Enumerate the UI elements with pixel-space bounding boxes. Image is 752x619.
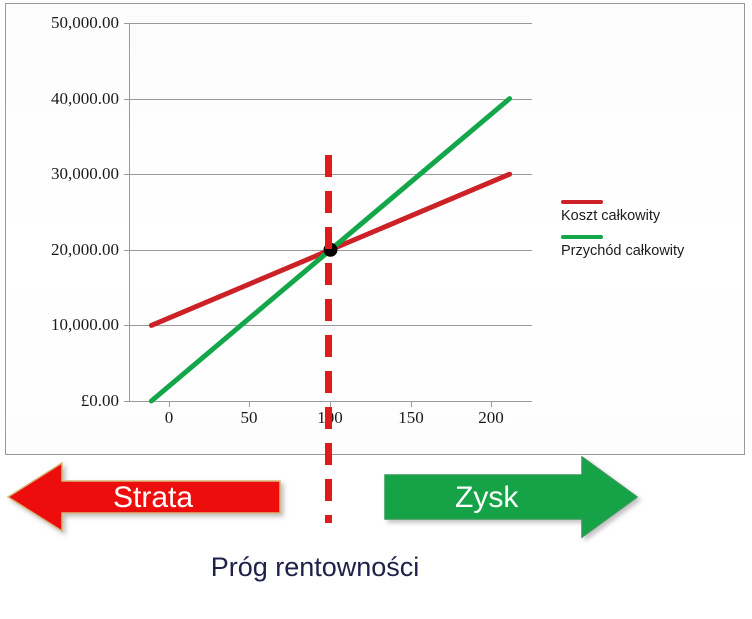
legend-item-total-revenue[interactable]: Przychód całkowity (561, 235, 741, 259)
loss-arrow-label: Strata (113, 481, 193, 515)
profit-arrow-label: Zysk (455, 481, 518, 515)
legend-item-label: Przychód całkowity (561, 243, 741, 259)
y-axis-tick-label: £0.00 (81, 391, 119, 411)
x-axis-tick-label: 50 (241, 408, 258, 428)
chart-legend: Koszt całkowity Przychód całkowity (561, 200, 741, 270)
breakeven-vertical-dashed-line (325, 155, 332, 523)
x-axis-tick-label: 150 (398, 408, 424, 428)
y-axis-labels: £0.00 10,000.00 20,000.00 30,000.00 40,0… (6, 23, 119, 401)
x-axis-tick (249, 401, 250, 407)
legend-item-label: Koszt całkowity (561, 208, 741, 224)
legend-swatch-icon (561, 235, 603, 239)
y-axis-tick-label: 30,000.00 (51, 164, 119, 184)
x-axis-tick (491, 401, 492, 407)
legend-swatch-icon (561, 200, 603, 204)
y-axis-tick (124, 401, 129, 402)
y-axis-tick-label: 20,000.00 (51, 240, 119, 260)
y-axis-tick-label: 50,000.00 (51, 13, 119, 33)
x-axis-tick-label: 200 (478, 408, 504, 428)
breakeven-caption: Próg rentowności (0, 552, 630, 583)
x-axis-tick (411, 401, 412, 407)
legend-item-total-cost[interactable]: Koszt całkowity (561, 200, 741, 224)
chart-frame: £0.00 10,000.00 20,000.00 30,000.00 40,0… (5, 3, 745, 455)
y-axis-tick-label: 40,000.00 (51, 89, 119, 109)
y-axis-tick-label: 10,000.00 (51, 315, 119, 335)
x-axis-tick (169, 401, 170, 407)
x-axis-tick-label: 0 (165, 408, 174, 428)
